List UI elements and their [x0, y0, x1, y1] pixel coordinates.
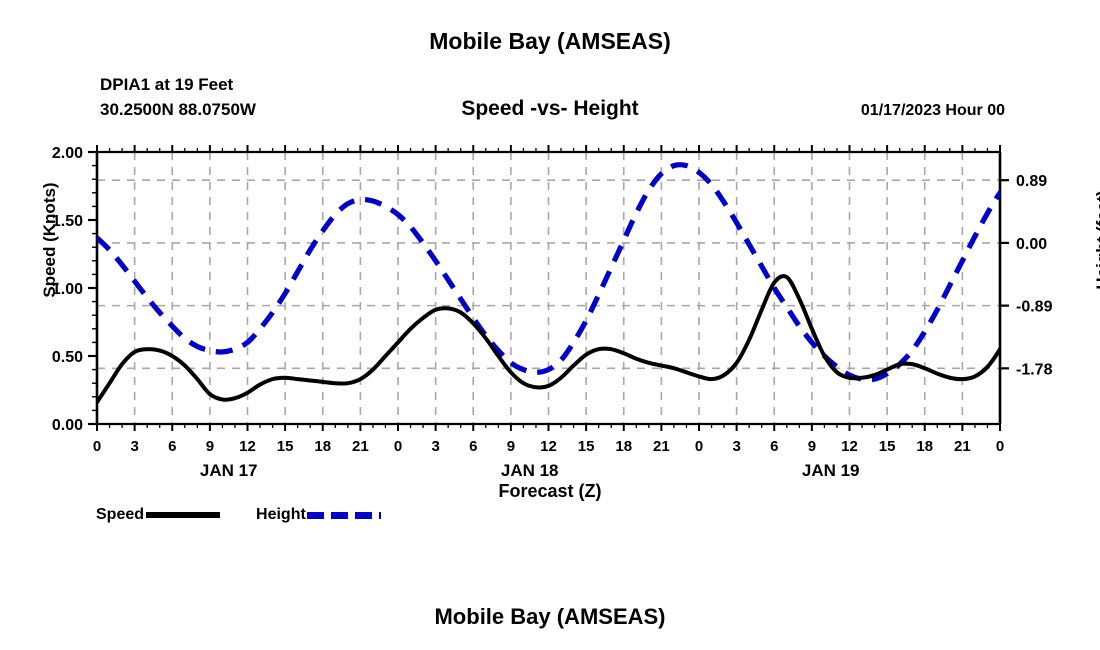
legend-entry-height: Height — [256, 506, 381, 524]
svg-text:-0.89: -0.89 — [1016, 299, 1053, 316]
svg-text:0: 0 — [93, 438, 101, 455]
chart-page: Mobile Bay (AMSEAS) DPIA1 at 19 Feet 30.… — [0, 0, 1100, 650]
svg-text:0.00: 0.00 — [1016, 236, 1047, 253]
svg-text:JAN 17: JAN 17 — [200, 461, 258, 480]
svg-text:2.00: 2.00 — [52, 145, 83, 162]
legend-swatch-height — [307, 512, 381, 519]
svg-text:9: 9 — [206, 438, 214, 455]
legend-label-height: Height — [256, 506, 306, 524]
legend-label-speed: Speed — [96, 506, 144, 524]
svg-text:18: 18 — [615, 438, 632, 455]
svg-text:21: 21 — [352, 438, 369, 455]
svg-text:12: 12 — [540, 438, 557, 455]
svg-text:0.89: 0.89 — [1016, 173, 1047, 190]
svg-text:9: 9 — [808, 438, 816, 455]
svg-text:12: 12 — [239, 438, 256, 455]
chart-plot-area: 0.000.501.001.502.00-1.78-0.890.000.8903… — [0, 0, 1100, 500]
svg-text:15: 15 — [879, 438, 896, 455]
svg-text:1.00: 1.00 — [52, 281, 83, 298]
svg-text:-1.78: -1.78 — [1016, 361, 1053, 378]
legend-swatch-speed — [146, 512, 220, 518]
svg-text:15: 15 — [277, 438, 294, 455]
svg-text:JAN 19: JAN 19 — [802, 461, 860, 480]
svg-text:0.00: 0.00 — [52, 417, 83, 434]
svg-text:0: 0 — [394, 438, 402, 455]
page-title-bottom: Mobile Bay (AMSEAS) — [0, 604, 1100, 630]
svg-text:18: 18 — [314, 438, 331, 455]
svg-text:15: 15 — [578, 438, 595, 455]
svg-text:1.50: 1.50 — [52, 213, 83, 230]
svg-text:0: 0 — [695, 438, 703, 455]
svg-text:21: 21 — [653, 438, 670, 455]
svg-text:6: 6 — [469, 438, 477, 455]
svg-text:6: 6 — [770, 438, 778, 455]
svg-text:3: 3 — [732, 438, 740, 455]
svg-text:12: 12 — [841, 438, 858, 455]
svg-text:JAN 18: JAN 18 — [501, 461, 559, 480]
chart-legend: Speed Height — [96, 506, 381, 524]
legend-entry-speed: Speed — [96, 506, 220, 524]
svg-text:0: 0 — [996, 438, 1004, 455]
svg-text:3: 3 — [431, 438, 439, 455]
svg-text:6: 6 — [168, 438, 176, 455]
svg-text:0.50: 0.50 — [52, 349, 83, 366]
svg-text:9: 9 — [507, 438, 515, 455]
svg-text:18: 18 — [916, 438, 933, 455]
svg-text:21: 21 — [954, 438, 971, 455]
svg-text:3: 3 — [130, 438, 138, 455]
